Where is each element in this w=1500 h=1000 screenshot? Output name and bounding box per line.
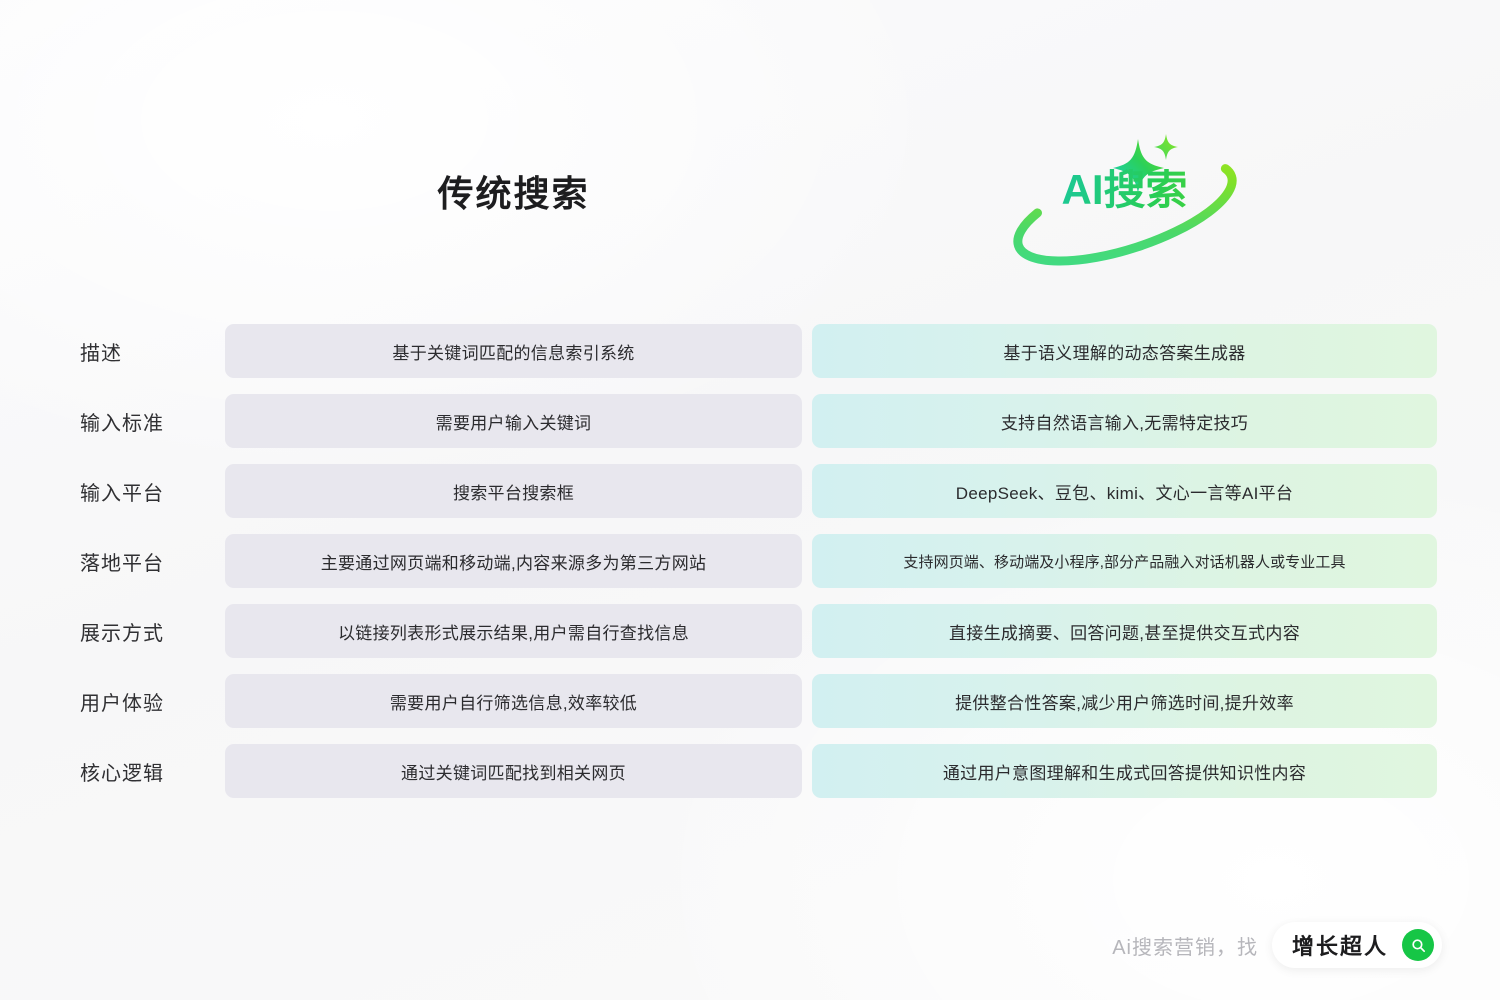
ai-search-logo: AI搜索: [1000, 131, 1250, 276]
cell-traditional: 以链接列表形式展示结果,用户需自行查找信息: [225, 604, 802, 658]
brand-name: 增长超人: [1292, 929, 1388, 961]
table-row: 输入标准 需要用户输入关键词 支持自然语言输入,无需特定技巧: [0, 394, 1500, 448]
row-label: 用户体验: [80, 674, 164, 728]
table-row: 展示方式 以链接列表形式展示结果,用户需自行查找信息 直接生成摘要、回答问题,甚…: [0, 604, 1500, 658]
footer-watermark: Ai搜索营销，找 增长超人: [1112, 922, 1442, 968]
cell-ai: DeepSeek、豆包、kimi、文心一言等AI平台: [812, 464, 1437, 518]
cell-traditional: 需要用户输入关键词: [225, 394, 802, 448]
search-icon[interactable]: [1402, 929, 1434, 961]
row-label: 输入标准: [80, 394, 164, 448]
cell-ai: 支持网页端、移动端及小程序,部分产品融入对话机器人或专业工具: [812, 534, 1437, 588]
comparison-table: 描述 基于关键词匹配的信息索引系统 基于语义理解的动态答案生成器 输入标准 需要…: [0, 324, 1500, 798]
table-row: 输入平台 搜索平台搜索框 DeepSeek、豆包、kimi、文心一言等AI平台: [0, 464, 1500, 518]
row-label: 输入平台: [80, 464, 164, 518]
cell-ai: 支持自然语言输入,无需特定技巧: [812, 394, 1437, 448]
cell-ai: 基于语义理解的动态答案生成器: [812, 324, 1437, 378]
cell-traditional: 基于关键词匹配的信息索引系统: [225, 324, 802, 378]
cell-ai: 通过用户意图理解和生成式回答提供知识性内容: [812, 744, 1437, 798]
brand-pill[interactable]: 增长超人: [1272, 922, 1442, 968]
cell-ai: 直接生成摘要、回答问题,甚至提供交互式内容: [812, 604, 1437, 658]
column-header-traditional: 传统搜索: [225, 172, 802, 215]
cell-ai: 提供整合性答案,减少用户筛选时间,提升效率: [812, 674, 1437, 728]
cell-traditional: 通过关键词匹配找到相关网页: [225, 744, 802, 798]
cell-traditional: 主要通过网页端和移动端,内容来源多为第三方网站: [225, 534, 802, 588]
column-header-ai: AI搜索: [812, 128, 1437, 278]
row-label: 落地平台: [80, 534, 164, 588]
row-label: 展示方式: [80, 604, 164, 658]
slide-root: 传统搜索: [0, 0, 1500, 1000]
table-row: 核心逻辑 通过关键词匹配找到相关网页 通过用户意图理解和生成式回答提供知识性内容: [0, 744, 1500, 798]
row-label: 核心逻辑: [80, 744, 164, 798]
row-label: 描述: [80, 324, 122, 378]
ai-search-logo-text: AI搜索: [1000, 169, 1250, 211]
table-row: 用户体验 需要用户自行筛选信息,效率较低 提供整合性答案,减少用户筛选时间,提升…: [0, 674, 1500, 728]
table-row: 落地平台 主要通过网页端和移动端,内容来源多为第三方网站 支持网页端、移动端及小…: [0, 534, 1500, 588]
cell-traditional: 需要用户自行筛选信息,效率较低: [225, 674, 802, 728]
table-row: 描述 基于关键词匹配的信息索引系统 基于语义理解的动态答案生成器: [0, 324, 1500, 378]
footer-tagline: Ai搜索营销，找: [1112, 931, 1258, 960]
cell-traditional: 搜索平台搜索框: [225, 464, 802, 518]
